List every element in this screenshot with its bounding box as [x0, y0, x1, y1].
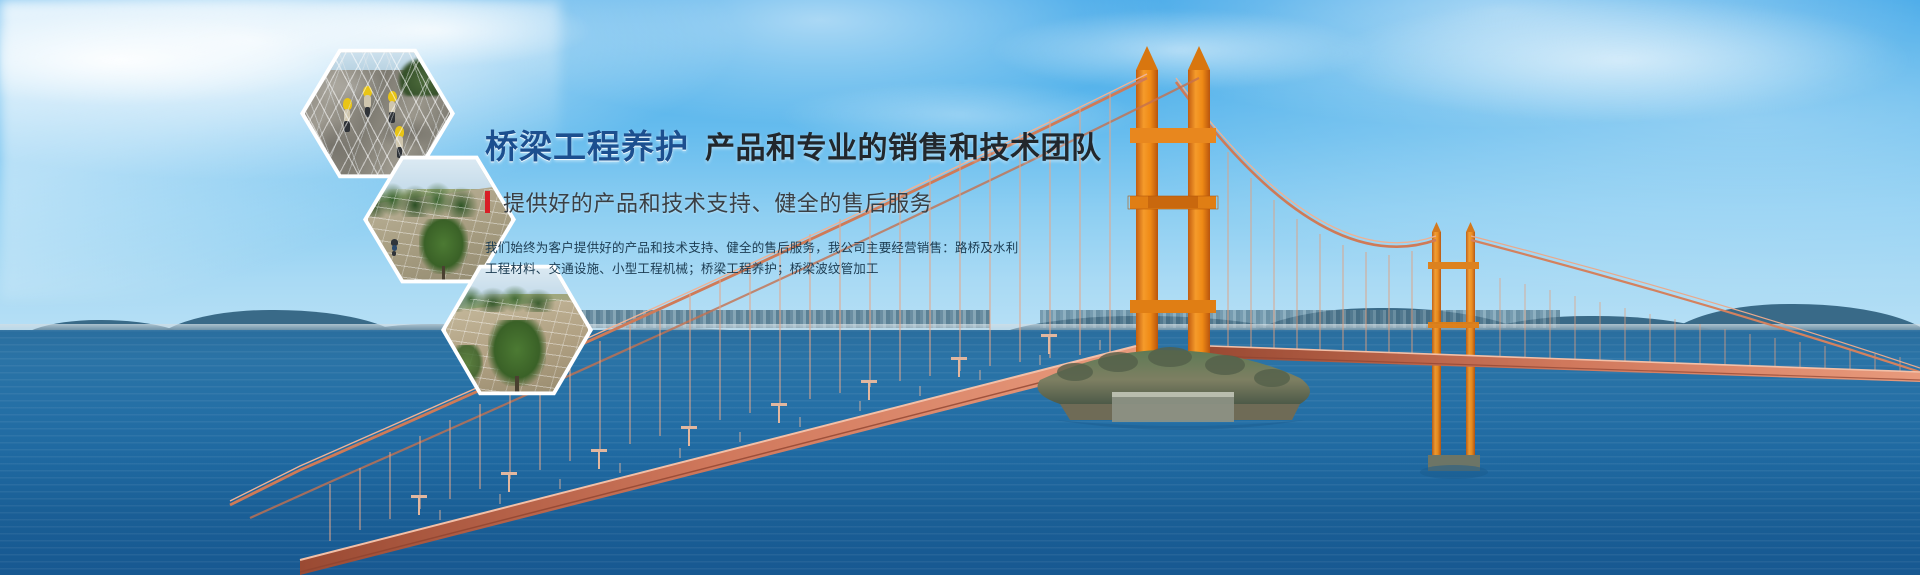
tree — [419, 219, 468, 274]
body-paragraph: 我们始终为客户提供好的产品和技术支持、健全的售后服务，我公司主要经营销售：路桥及… — [485, 238, 965, 280]
body-line-1: 我们始终为客户提供好的产品和技术支持、健全的售后服务，我公司主要经营销售：路桥及… — [485, 238, 965, 259]
subheadline: 提供好的产品和技术支持、健全的售后服务 — [485, 186, 1105, 218]
hero-text-block: 桥梁工程养护 产品和专业的销售和技术团队 提供好的产品和技术支持、健全的售后服务… — [485, 120, 1105, 280]
bridge-main-cable-center — [1176, 82, 1436, 247]
tree — [488, 320, 545, 386]
accent-bar-icon — [485, 191, 490, 213]
suspension-bridge — [0, 0, 1920, 575]
bridge-tower-far — [1428, 222, 1479, 462]
headline: 桥梁工程养护 产品和专业的销售和技术团队 — [485, 120, 1105, 168]
headline-primary: 桥梁工程养护 — [485, 120, 689, 168]
bridge-far-pier — [1420, 455, 1488, 479]
headline-secondary: 产品和专业的销售和技术团队 — [705, 123, 1102, 167]
bridge-main-cable-far-right — [1471, 240, 1920, 372]
bridge-hangers-center — [1205, 122, 1412, 359]
subheadline-text: 提供好的产品和技术支持、健全的售后服务 — [503, 186, 932, 218]
bridge-hangers-far-right — [1500, 278, 1900, 372]
worker-figure — [391, 239, 398, 255]
hero-banner: 桥梁工程养护 产品和专业的销售和技术团队 提供好的产品和技术支持、健全的售后服务… — [0, 0, 1920, 575]
body-line-2: 工程材料、交通设施、小型工程机械；桥梁工程养护；桥梁波纹管加工 — [485, 259, 965, 280]
